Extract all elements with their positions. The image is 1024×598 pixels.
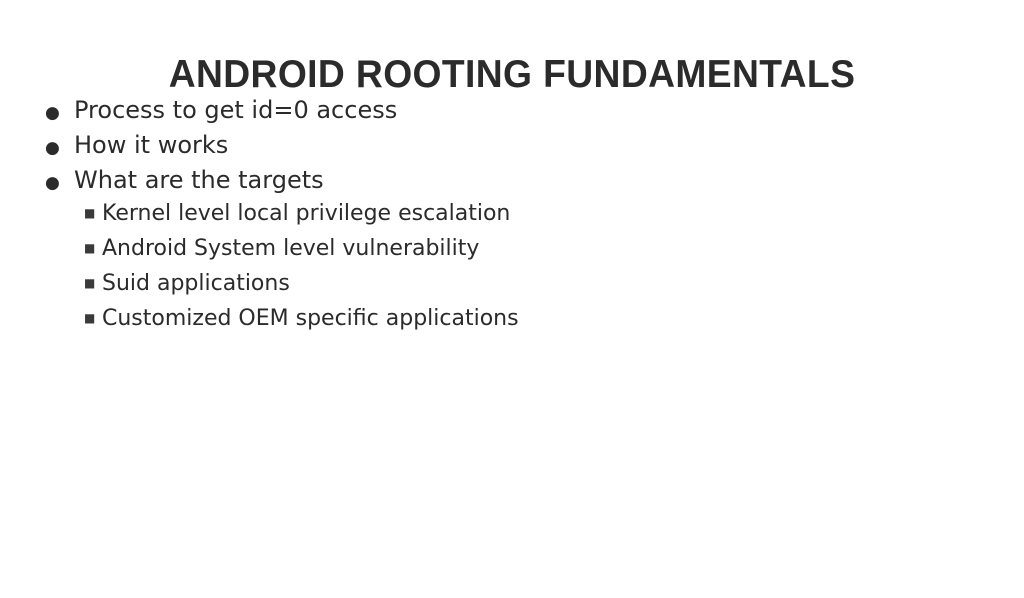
list-item: ● What are the targets: [0, 166, 1024, 201]
list-item-label: Customized OEM specific applications: [102, 306, 519, 332]
presentation-slide: ANDROID ROOTING FUNDAMENTALS ● Process t…: [0, 0, 1024, 598]
bullet-disc-icon: ●: [45, 175, 74, 192]
bullet-square-icon: ■: [84, 277, 102, 289]
list-item: ● How it works: [0, 131, 1024, 166]
bullet-disc-icon: ●: [45, 105, 74, 122]
list-item: ■ Customized OEM specific applications: [0, 306, 1024, 341]
list-item-label: How it works: [74, 131, 228, 159]
slide-title: ANDROID ROOTING FUNDAMENTALS: [23, 53, 1001, 97]
bullet-disc-icon: ●: [45, 140, 74, 157]
list-item-label: Suid applications: [102, 271, 290, 297]
list-item: ■ Suid applications: [0, 271, 1024, 306]
list-item-label: What are the targets: [74, 166, 324, 194]
list-item: ■ Kernel level local privilege escalatio…: [0, 201, 1024, 236]
list-item-label: Kernel level local privilege escalation: [102, 201, 510, 227]
bullet-square-icon: ■: [84, 312, 102, 324]
list-item: ● Process to get id=0 access: [0, 96, 1024, 131]
slide-body-bullet-list: ● Process to get id=0 access ● How it wo…: [0, 96, 1024, 341]
bullet-square-icon: ■: [84, 207, 102, 219]
list-item: ■ Android System level vulnerability: [0, 236, 1024, 271]
bullet-square-icon: ■: [84, 242, 102, 254]
list-item-label: Process to get id=0 access: [74, 96, 397, 124]
list-item-label: Android System level vulnerability: [102, 236, 479, 262]
